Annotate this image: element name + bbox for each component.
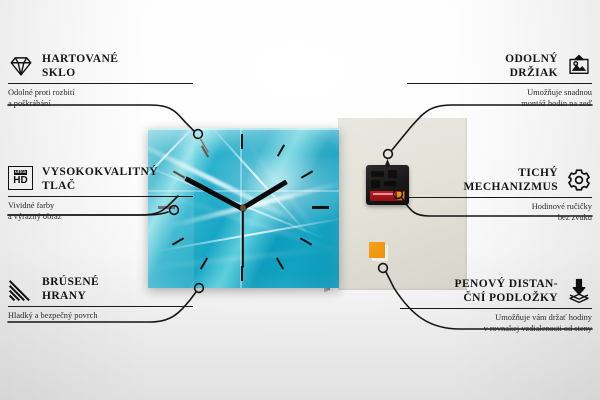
clock-glass-reflection [148,128,339,154]
hour-tick-3 [312,206,329,209]
hour-tick-12 [241,134,243,149]
foam-spacer-icon [566,278,592,304]
feature-callout-tempered-glass[interactable]: HARTOVANÉSKLO Odolné proti rozbitía pošk… [8,52,193,109]
feature-divider [407,83,592,84]
feature-title: BRÚSENÉHRANY [42,275,99,303]
feature-title: VYSOKOKVALITNÝTLAČ [42,165,158,193]
feature-header: BRÚSENÉHRANY [8,275,193,303]
battery [370,191,405,201]
feature-callout-durable-hanger[interactable]: ODOLNÝDRŽIAK Umožňuje snadnoumontáž hodi… [407,52,592,109]
picture-hanger-icon [566,53,592,79]
feature-description: Umožňuje snadnoumontáž hodin na zeď [407,88,592,109]
feature-header: TICHÝMECHANIZMUS [407,166,592,194]
feature-header: PENOVÝ DISTAN-ČNÍ PODLOŽKY [400,277,592,305]
feature-description: Umožňuje vám držať hodinyv rovnakej vzdi… [400,313,592,334]
feature-divider [8,196,193,197]
feature-divider [8,306,193,307]
product-infographic: HARTOVANÉSKLO Odolné proti rozbitía pošk… [0,0,600,400]
feature-description: Odolné proti rozbitía poškrábání [8,88,193,109]
clock-center-hub [240,205,246,211]
feature-description: Hodinové ručičkybez zvuku [407,202,592,223]
gear-icon [566,167,592,193]
second-hand [242,208,244,268]
clock-glass-top-edge [148,128,339,130]
feature-header: ultra HD VYSOKOKVALITNÝTLAČ [8,165,193,193]
mechanism-detail [371,171,384,177]
feature-description: Vividné farbya výrazný obraz [8,201,193,222]
feature-header: ODOLNÝDRŽIAK [407,52,592,80]
mechanism-detail [384,181,396,186]
battery-label [373,193,395,195]
feature-title: HARTOVANÉSKLO [42,52,118,80]
battery-positive-terminal [397,192,404,200]
feature-title: ODOLNÝDRŽIAK [505,52,558,80]
hour-tick-6 [241,266,243,281]
feature-callout-polished-edges[interactable]: BRÚSENÉHRANY Hladký a bezpečný povrch [8,275,193,322]
mechanism-detail [371,180,380,188]
feature-callout-silent-mechanism[interactable]: TICHÝMECHANIZMUS Hodinové ručičkybez zvu… [407,166,592,223]
feature-divider [400,308,592,309]
clock-mechanism [366,165,409,205]
ultra-hd-icon: ultra HD [8,166,34,192]
feature-divider [407,197,592,198]
mechanism-detail [388,170,397,178]
feature-title: PENOVÝ DISTAN-ČNÍ PODLOŽKY [455,277,558,305]
feature-callout-high-quality-print[interactable]: ultra HD VYSOKOKVALITNÝTLAČ Vividné farb… [8,165,193,222]
feature-header: HARTOVANÉSKLO [8,52,193,80]
feature-title: TICHÝMECHANIZMUS [464,166,559,194]
polished-edges-icon [8,276,34,302]
diamond-icon [8,53,34,79]
feature-callout-foam-spacers[interactable]: PENOVÝ DISTAN-ČNÍ PODLOŽKY Umožňuje vám … [400,277,592,334]
foam-spacer-pad [369,242,385,258]
feature-description: Hladký a bezpečný povrch [8,311,193,322]
feature-divider [8,83,193,84]
